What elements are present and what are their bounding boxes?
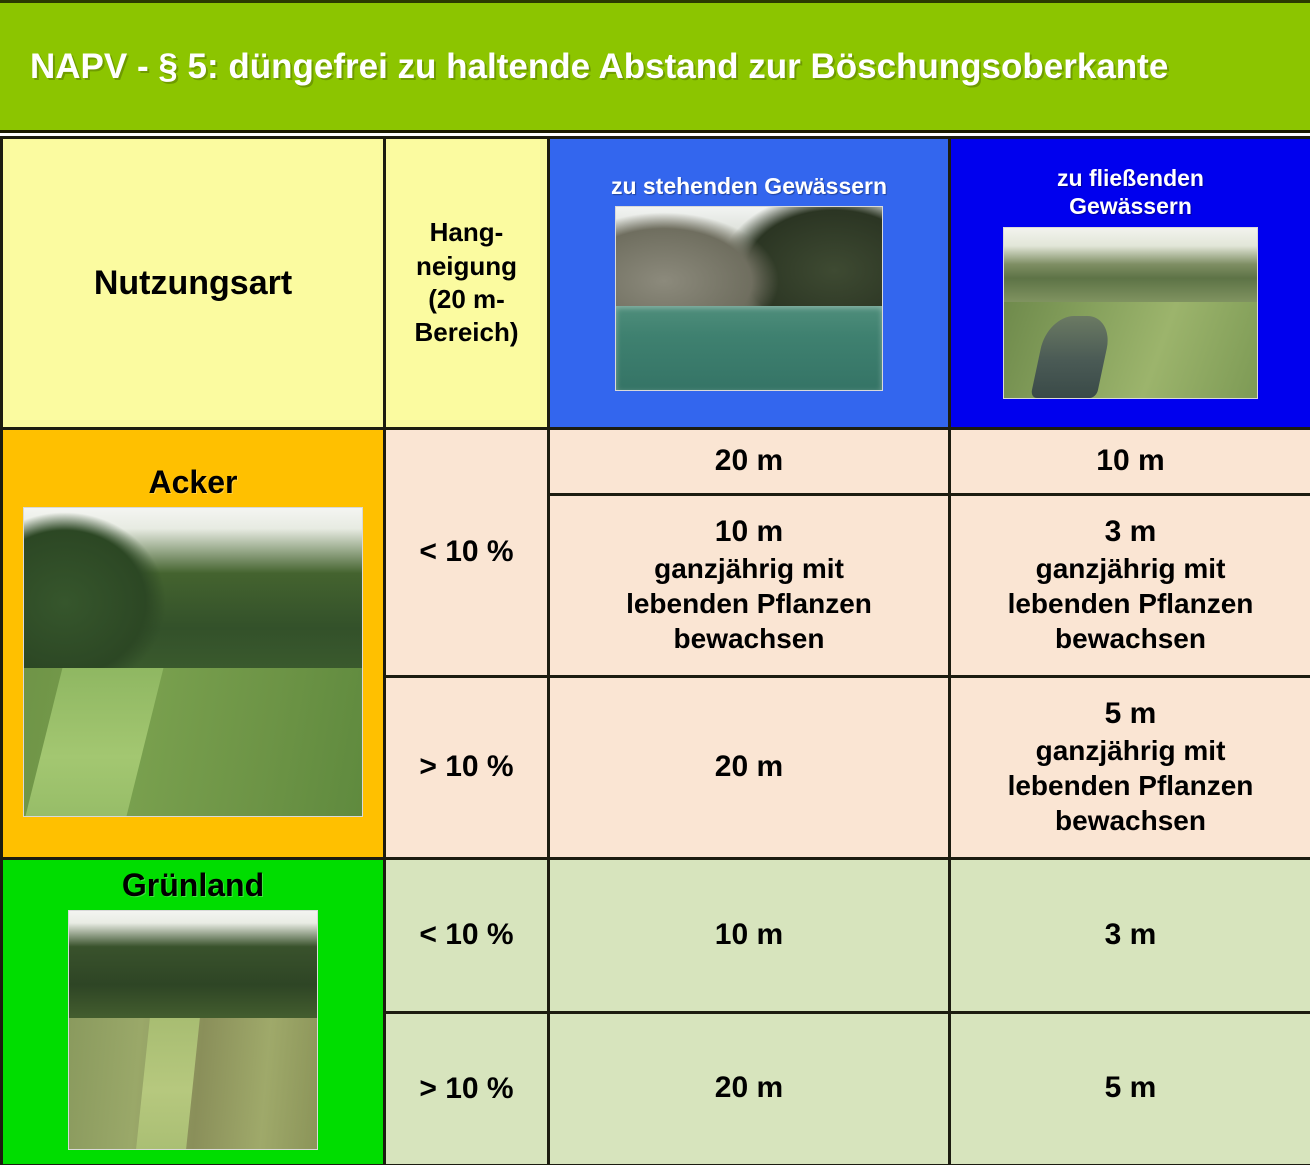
value-gruenland-gt10-flow: 5 m bbox=[959, 1070, 1302, 1107]
data-cell-gruenland-lt10-flow: 3 m bbox=[950, 859, 1310, 1013]
slope-value-gruenland-lt10: < 10 % bbox=[419, 918, 513, 951]
slope-cell-gruenland-lt10: < 10 % bbox=[385, 859, 549, 1013]
header-label-fliessende-gewaesser: zu fließenden Gewässern bbox=[957, 165, 1304, 220]
header-label-hangneigung-line-4: Bereich) bbox=[392, 316, 541, 349]
header-label-fliessende-line-1: zu fließenden bbox=[957, 165, 1304, 193]
note-line-2: lebenden Pflanzen bbox=[959, 768, 1302, 803]
note-line-3: bewachsen bbox=[558, 621, 940, 656]
table-header-row: Nutzungsart Hang- neigung (20 m- Bereich… bbox=[2, 138, 1310, 429]
value-gruenland-gt10-still: 20 m bbox=[558, 1070, 940, 1107]
slope-cell-acker-lt10: < 10 % bbox=[385, 429, 549, 677]
note-line-1: ganzjährig mit bbox=[558, 551, 940, 586]
slide-root: NAPV - § 5: düngefrei zu haltende Abstan… bbox=[0, 0, 1310, 1165]
regulation-table-wrapper: Nutzungsart Hang- neigung (20 m- Bereich… bbox=[0, 136, 1310, 1165]
page-title: NAPV - § 5: düngefrei zu haltende Abstan… bbox=[0, 47, 1168, 87]
note-line-2: lebenden Pflanzen bbox=[558, 586, 940, 621]
grassland-path-shape bbox=[137, 1018, 200, 1149]
value-gruenland-lt10-flow: 3 m bbox=[959, 917, 1302, 954]
grassland-photo bbox=[68, 910, 318, 1150]
value-acker-gt10-still: 20 m bbox=[558, 749, 940, 786]
lake-gorge-photo bbox=[615, 206, 883, 391]
value-acker-lt10-flow-a: 10 m bbox=[959, 443, 1302, 480]
slope-cell-gruenland-gt10: > 10 % bbox=[385, 1012, 549, 1165]
use-label-acker: Acker bbox=[3, 464, 383, 501]
title-banner: NAPV - § 5: düngefrei zu haltende Abstan… bbox=[0, 0, 1310, 133]
value-acker-lt10-still-a: 20 m bbox=[558, 443, 940, 480]
use-label-gruenland: Grünland bbox=[3, 867, 383, 904]
slope-value-acker-gt10: > 10 % bbox=[419, 750, 513, 783]
regulation-table: Nutzungsart Hang- neigung (20 m- Bereich… bbox=[0, 136, 1310, 1165]
data-cell-acker-gt10-still: 20 m bbox=[549, 676, 950, 858]
header-label-fliessende-line-2: Gewässern bbox=[957, 193, 1304, 221]
stream-meadow-photo bbox=[1003, 227, 1258, 399]
data-cell-acker-lt10-still-b: 10 m ganzjährig mit lebenden Pflanzen be… bbox=[549, 494, 950, 676]
value-acker-lt10-still-b: 10 m bbox=[558, 514, 940, 551]
value-acker-lt10-flow-b: 3 m bbox=[959, 514, 1302, 551]
table-row-gruenland-lt10: Grünland < 10 % 10 m 3 m bbox=[2, 859, 1310, 1013]
data-cell-gruenland-gt10-flow: 5 m bbox=[950, 1012, 1310, 1165]
arable-field-photo bbox=[23, 507, 363, 817]
slope-value-gruenland-gt10: > 10 % bbox=[419, 1072, 513, 1105]
header-cell-stehende-gewaesser: zu stehenden Gewässern bbox=[549, 138, 950, 429]
header-label-hangneigung-line-1: Hang- bbox=[392, 216, 541, 249]
note-acker-lt10-still: ganzjährig mit lebenden Pflanzen bewachs… bbox=[558, 551, 940, 657]
value-gruenland-lt10-still: 10 m bbox=[558, 917, 940, 954]
header-cell-hangneigung: Hang- neigung (20 m- Bereich) bbox=[385, 138, 549, 429]
note-acker-gt10-flow: ganzjährig mit lebenden Pflanzen bewachs… bbox=[959, 733, 1302, 839]
header-label-hangneigung-line-2: neigung bbox=[392, 250, 541, 283]
header-label-nutzungsart: Nutzungsart bbox=[94, 264, 292, 302]
header-cell-nutzungsart: Nutzungsart bbox=[2, 138, 385, 429]
use-cell-acker: Acker bbox=[2, 429, 385, 859]
note-line-2: lebenden Pflanzen bbox=[959, 586, 1302, 621]
slope-cell-acker-gt10: > 10 % bbox=[385, 676, 549, 858]
field-path-shape bbox=[26, 668, 164, 816]
note-line-1: ganzjährig mit bbox=[959, 733, 1302, 768]
slope-value-acker-lt10: < 10 % bbox=[419, 535, 513, 568]
note-line-1: ganzjährig mit bbox=[959, 551, 1302, 586]
data-cell-acker-gt10-flow: 5 m ganzjährig mit lebenden Pflanzen bew… bbox=[950, 676, 1310, 858]
data-cell-acker-lt10-flow-a: 10 m bbox=[950, 429, 1310, 495]
header-label-stehende-gewaesser: zu stehenden Gewässern bbox=[556, 173, 942, 201]
header-cell-fliessende-gewaesser: zu fließenden Gewässern bbox=[950, 138, 1310, 429]
data-cell-acker-lt10-flow-b: 3 m ganzjährig mit lebenden Pflanzen bew… bbox=[950, 494, 1310, 676]
stream-water-shape bbox=[1031, 316, 1114, 398]
note-line-3: bewachsen bbox=[959, 803, 1302, 838]
use-cell-gruenland: Grünland bbox=[2, 859, 385, 1165]
table-row-acker-lt10-a: Acker < 10 % 20 m 10 m bbox=[2, 429, 1310, 495]
note-line-3: bewachsen bbox=[959, 621, 1302, 656]
data-cell-gruenland-lt10-still: 10 m bbox=[549, 859, 950, 1013]
note-acker-lt10-flow: ganzjährig mit lebenden Pflanzen bewachs… bbox=[959, 551, 1302, 657]
data-cell-gruenland-gt10-still: 20 m bbox=[549, 1012, 950, 1165]
value-acker-gt10-flow: 5 m bbox=[959, 696, 1302, 733]
header-label-hangneigung-line-3: (20 m- bbox=[392, 283, 541, 316]
data-cell-acker-lt10-still-a: 20 m bbox=[549, 429, 950, 495]
